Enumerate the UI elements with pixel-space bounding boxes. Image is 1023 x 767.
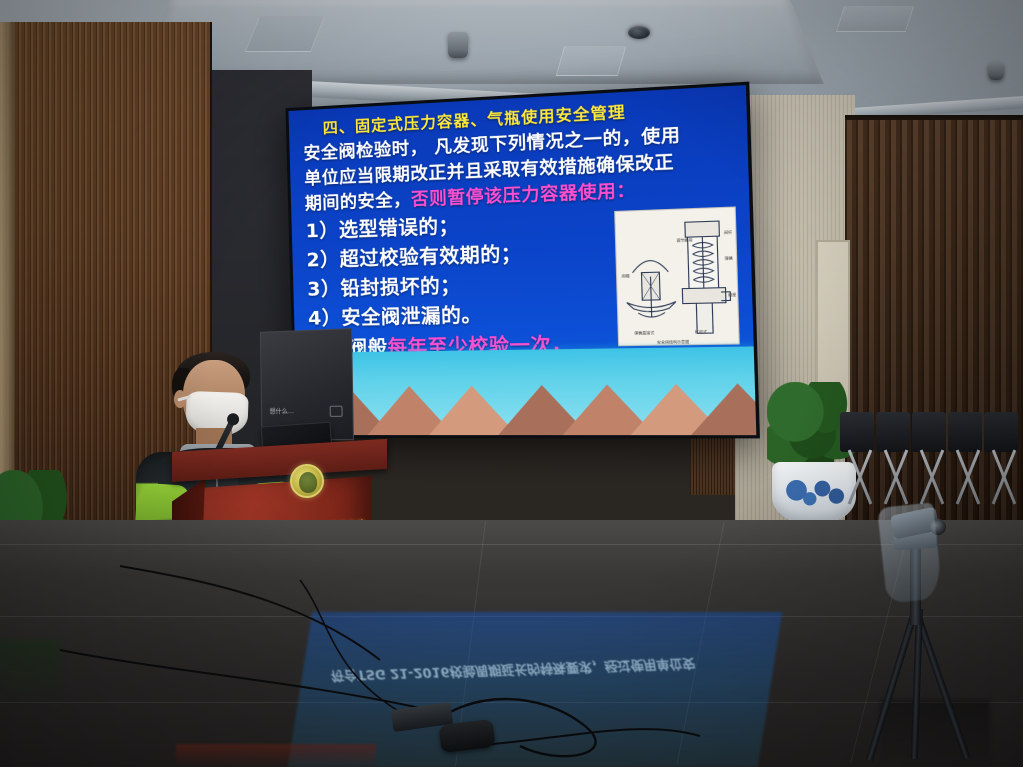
svg-text:调节螺母: 调节螺母 xyxy=(676,237,693,243)
list-text: 超过校验有效期的； xyxy=(339,243,522,271)
chair-legs xyxy=(842,448,878,506)
chair-legs xyxy=(950,448,986,506)
slide-body-line-text: 期间的安全， xyxy=(305,190,412,214)
slide-mountain-art xyxy=(295,346,756,435)
floor-cables xyxy=(0,540,1023,767)
chair-back xyxy=(948,412,982,452)
camera-tripod xyxy=(880,505,1010,767)
svg-text:弹簧直接式: 弹簧直接式 xyxy=(634,330,655,336)
list-number: 2） xyxy=(306,248,340,271)
chair-legs xyxy=(878,448,914,506)
chair-back xyxy=(984,412,1018,452)
ceiling-speaker xyxy=(988,62,1004,80)
svg-text:弹簧: 弹簧 xyxy=(725,255,734,261)
chair-back xyxy=(912,412,946,452)
list-text: 选型错误的； xyxy=(339,215,460,242)
monitor-ui-chip xyxy=(330,406,343,417)
safety-valve-diagram: 阀帽 调节螺母 阀杆 弹簧 阀座 弹簧直接式 杠杆式 安全阀结构示意图 xyxy=(614,206,740,346)
ceiling-tile xyxy=(836,6,914,32)
conference-hall-photo: 四、固定式压力容器、气瓶使用安全管理 安全阀检验时， 凡发现下列情况之一的，使用… xyxy=(0,0,1023,767)
downlight-icon xyxy=(628,26,650,39)
valve-diagram-svg: 阀帽 调节螺母 阀杆 弹簧 阀座 弹簧直接式 杠杆式 安全阀结构示意图 xyxy=(615,207,741,347)
list-number: 4） xyxy=(308,307,342,330)
svg-text:阀帽: 阀帽 xyxy=(621,273,630,279)
list-text: 安全阀泄漏的。 xyxy=(341,304,482,329)
list-text: 铅封损坏的； xyxy=(340,274,461,299)
list-number: 3） xyxy=(307,278,341,301)
list-number: 1） xyxy=(305,219,339,242)
chair-back xyxy=(876,412,910,452)
ceiling-speaker xyxy=(448,32,468,58)
slide-content: 四、固定式压力容器、气瓶使用安全管理 安全阀检验时， 凡发现下列情况之一的，使用… xyxy=(288,85,756,435)
camera-plastic-wrap xyxy=(877,502,943,603)
chair-back xyxy=(840,412,874,452)
projection-screen: 四、固定式压力容器、气瓶使用安全管理 安全阀检验时， 凡发现下列情况之一的，使用… xyxy=(285,82,759,439)
svg-text:杠杆式: 杠杆式 xyxy=(695,329,708,335)
chair-legs xyxy=(914,448,950,506)
tripod-leg xyxy=(911,609,923,759)
svg-text:阀杆: 阀杆 xyxy=(724,229,733,235)
svg-text:阀座: 阀座 xyxy=(728,292,737,298)
ceiling-tile xyxy=(556,46,627,76)
chair-legs xyxy=(986,448,1022,506)
